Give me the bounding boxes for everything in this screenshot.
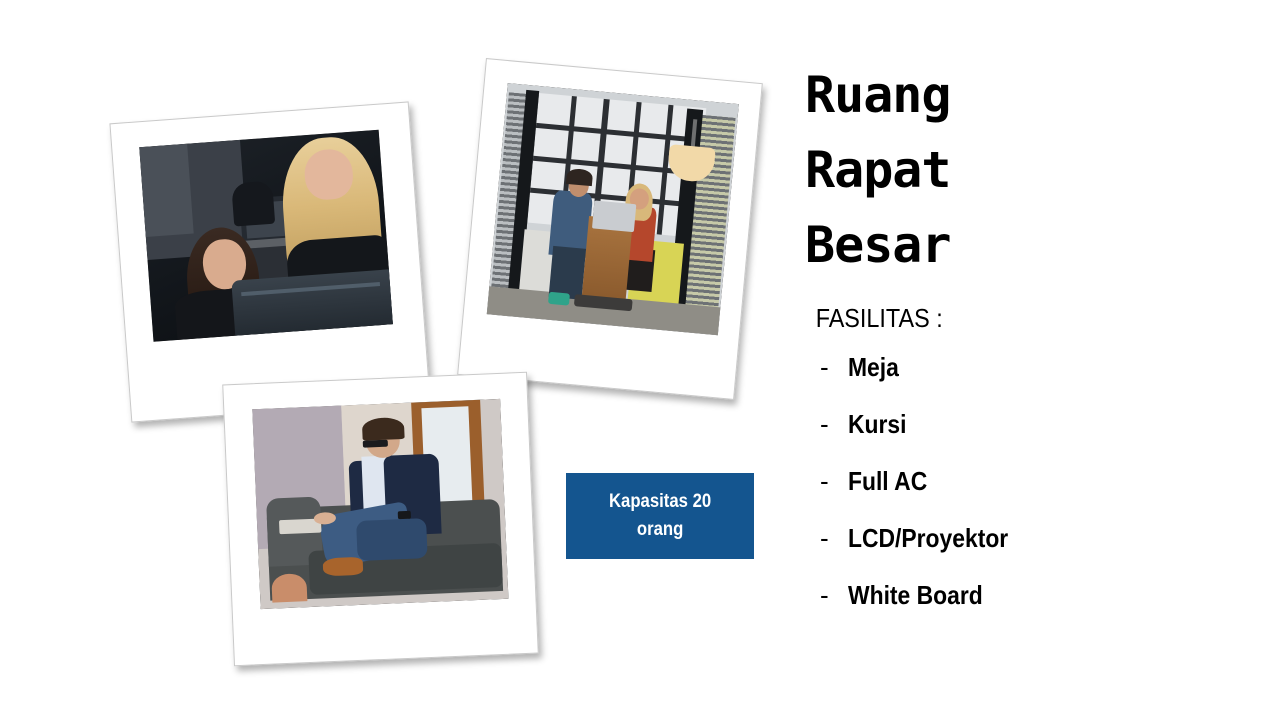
list-bullet: -	[820, 466, 848, 497]
list-item-label: Full AC	[848, 466, 927, 497]
photo-image-two-women-at-monitor	[139, 130, 393, 342]
list-bullet: -	[820, 352, 848, 383]
list-bullet: -	[820, 580, 848, 611]
page-title-line-1: Ruang	[805, 58, 1265, 133]
photo-collage	[0, 0, 790, 720]
list-item-label: LCD/Proyektor	[848, 523, 1008, 554]
list-item-label: Kursi	[848, 409, 906, 440]
capacity-line-1: Kapasitas 20	[609, 491, 711, 512]
facilities-list: - Meja - Kursi - Full AC - LCD/Proyektor…	[795, 334, 1265, 637]
capacity-badge: Kapasitas 20 orang	[566, 473, 754, 559]
slide-canvas: Kapasitas 20 orang Ruang Rapat Besar FAS…	[0, 0, 1280, 720]
photo-frame-two-women-at-monitor[interactable]	[109, 101, 430, 422]
photo-frame-booth-meeting[interactable]	[457, 58, 763, 400]
page-title: Ruang Rapat Besar	[795, 58, 1265, 283]
list-bullet: -	[820, 409, 848, 440]
list-item-label: Meja	[848, 352, 899, 383]
photo-image-booth-meeting	[487, 83, 739, 335]
list-item: - White Board	[795, 580, 1265, 637]
list-bullet: -	[820, 523, 848, 554]
list-item-label: White Board	[848, 580, 983, 611]
list-item: - Kursi	[795, 409, 1265, 466]
capacity-line-2: orang	[637, 519, 683, 540]
photo-frame-man-on-sofa[interactable]	[222, 372, 539, 667]
page-title-line-3: Besar	[805, 208, 1265, 283]
capacity-badge-text: Kapasitas 20 orang	[609, 488, 711, 544]
photo-image-man-on-sofa	[252, 399, 508, 609]
facilities-heading: FASILITAS :	[795, 303, 1218, 334]
info-panel: Ruang Rapat Besar FASILITAS : - Meja - K…	[795, 58, 1265, 678]
list-item: - Full AC	[795, 466, 1265, 523]
page-title-line-2: Rapat	[805, 133, 1265, 208]
list-item: - Meja	[795, 352, 1265, 409]
list-item: - LCD/Proyektor	[795, 523, 1265, 580]
